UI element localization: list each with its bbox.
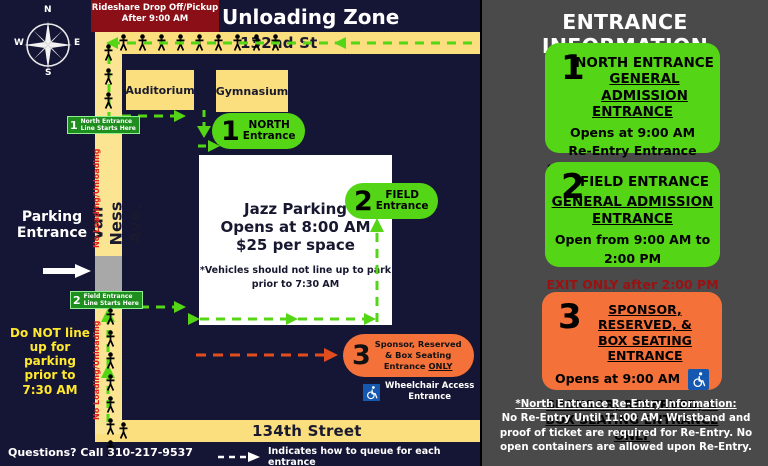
card-number: 3 xyxy=(558,300,582,334)
entrance-information-panel: ENTRANCE INFORMATION 1 NORTH ENTRANCE GE… xyxy=(480,0,768,466)
card-exit-only: EXIT ONLY after 2:00 PM xyxy=(545,277,720,292)
questions-phone-text: Questions? Call 310-217-9537 xyxy=(8,446,193,459)
wheelchair-legend-label: Wheelchair AccessEntrance xyxy=(385,381,474,403)
rideshare-line2: After 9:00 AM xyxy=(91,14,219,25)
badge-number: 3 xyxy=(352,342,371,369)
card-body-1: Opens at 9:00 AM xyxy=(555,370,680,388)
pedestrian-icon xyxy=(118,422,129,439)
wheelchair-icon xyxy=(688,369,709,390)
card-number: 2 xyxy=(561,170,585,204)
venue-map: N E S W 132nd St 134th Street Van Ness A… xyxy=(0,0,480,466)
rideshare-banner: Rideshare Drop Off/Pickup After 9:00 AM xyxy=(91,0,219,32)
compass-rose-icon: N E S W xyxy=(10,5,86,81)
badge-number: 1 xyxy=(221,118,240,145)
pedestrian-icon xyxy=(105,418,116,435)
pedestrian-icon xyxy=(105,396,116,413)
rideshare-line1: Rideshare Drop Off/Pickup xyxy=(91,3,219,14)
entrance-map-graphic: N E S W 132nd St 134th Street Van Ness A… xyxy=(0,0,768,466)
badge-number: 2 xyxy=(354,188,373,215)
badge-label: NORTHEntrance xyxy=(243,120,296,142)
entrance-card-north: 1 NORTH ENTRANCE GENERAL ADMISSION ENTRA… xyxy=(545,43,720,153)
queue-path-sponsor-entrance xyxy=(196,345,348,365)
line-tag-number: 2 xyxy=(73,295,81,306)
badge-label: Sponsor, Reserved & Box Seating Entrance… xyxy=(375,339,462,373)
card-number: 1 xyxy=(561,51,585,85)
line-tag-text: North EntranceLine Starts Here xyxy=(81,118,136,132)
compass-south-label: S xyxy=(45,68,51,78)
card-body-1: Opens at 9:00 AM xyxy=(545,124,720,142)
reentry-note-title: *North Entrance Re-Entry Information: xyxy=(490,398,762,412)
pedestrian-row-134th xyxy=(118,422,129,439)
compass-north-label: N xyxy=(44,5,52,15)
wheelchair-icon xyxy=(363,384,380,401)
parking-entrance-curb-cut xyxy=(95,256,122,296)
parking-entrance-label: ParkingEntrance xyxy=(16,209,88,241)
building-auditorium: Auditorium xyxy=(126,70,194,110)
no-loading-label-upper: No Loading/Unloading xyxy=(92,149,101,249)
pedestrian-queue-field xyxy=(105,308,116,457)
map-legend: Indicates how to queue for each entrance xyxy=(218,446,480,466)
pedestrian-icon xyxy=(105,330,116,347)
compass-east-label: E xyxy=(74,38,80,48)
pedestrian-icon xyxy=(105,352,116,369)
map-badge-field-entrance: 2 FIELDEntrance xyxy=(345,183,438,219)
line-tag-number: 1 xyxy=(70,120,78,131)
wheelchair-access-legend: Wheelchair AccessEntrance xyxy=(363,381,474,403)
street-134th-label: 134th Street xyxy=(252,422,362,440)
pedestrian-icon xyxy=(103,44,114,61)
line-tag-north-entrance: 1 North EntranceLine Starts Here xyxy=(67,116,140,134)
queue-arrow-132nd xyxy=(96,36,476,50)
map-badge-north-entrance: 1 NORTHEntrance xyxy=(212,113,305,149)
reentry-note-body: No Re-Entry Until 11:00 AM. Wristband an… xyxy=(490,412,762,455)
queue-path-field-entrance-lower xyxy=(186,304,392,328)
legend-dashed-arrow-icon xyxy=(218,451,262,463)
parking-entrance-arrow-icon xyxy=(43,264,91,278)
card-header-line3: ENTRANCE xyxy=(545,104,720,120)
compass-west-label: W xyxy=(14,38,24,48)
reentry-note: *North Entrance Re-Entry Information: No… xyxy=(490,398,762,456)
card-header-line3: ENTRANCE xyxy=(545,211,720,227)
legend-label: Indicates how to queue for each entrance xyxy=(268,446,480,466)
lot-note: *Vehicles should not line up to park pri… xyxy=(199,264,392,293)
entrance-card-field: 2 FIELD ENTRANCE GENERAL ADMISSION ENTRA… xyxy=(545,162,720,267)
pedestrian-queue-north xyxy=(103,44,114,109)
lot-price: $25 per space xyxy=(199,236,392,254)
card-body-2: Re-Entry Entrance xyxy=(545,142,720,160)
entrance-card-sponsor: 3 SPONSOR, RESERVED, & BOX SEATING ENTRA… xyxy=(542,292,722,390)
pedestrian-icon xyxy=(103,68,114,85)
lot-opens: Opens at 8:00 AM xyxy=(199,218,392,236)
pedestrian-icon xyxy=(105,308,116,325)
unloading-zone-title: Unloading Zone xyxy=(222,5,399,29)
queue-path-field-vertical xyxy=(368,214,386,324)
pedestrian-icon xyxy=(105,374,116,391)
do-not-line-up-warning: Do NOT line up for parking prior to 7:30… xyxy=(10,326,90,397)
badge-label: FIELDEntrance xyxy=(376,190,429,212)
pedestrian-icon xyxy=(103,92,114,109)
card-body-1: Open from 9:00 AM to 2:00 PM xyxy=(545,231,720,267)
building-gymnasium: Gymnasium xyxy=(216,70,288,112)
map-badge-sponsor-entrance: 3 Sponsor, Reserved & Box Seating Entran… xyxy=(343,334,474,377)
card-opens-row: Opens at 9:00 AM xyxy=(542,369,722,390)
